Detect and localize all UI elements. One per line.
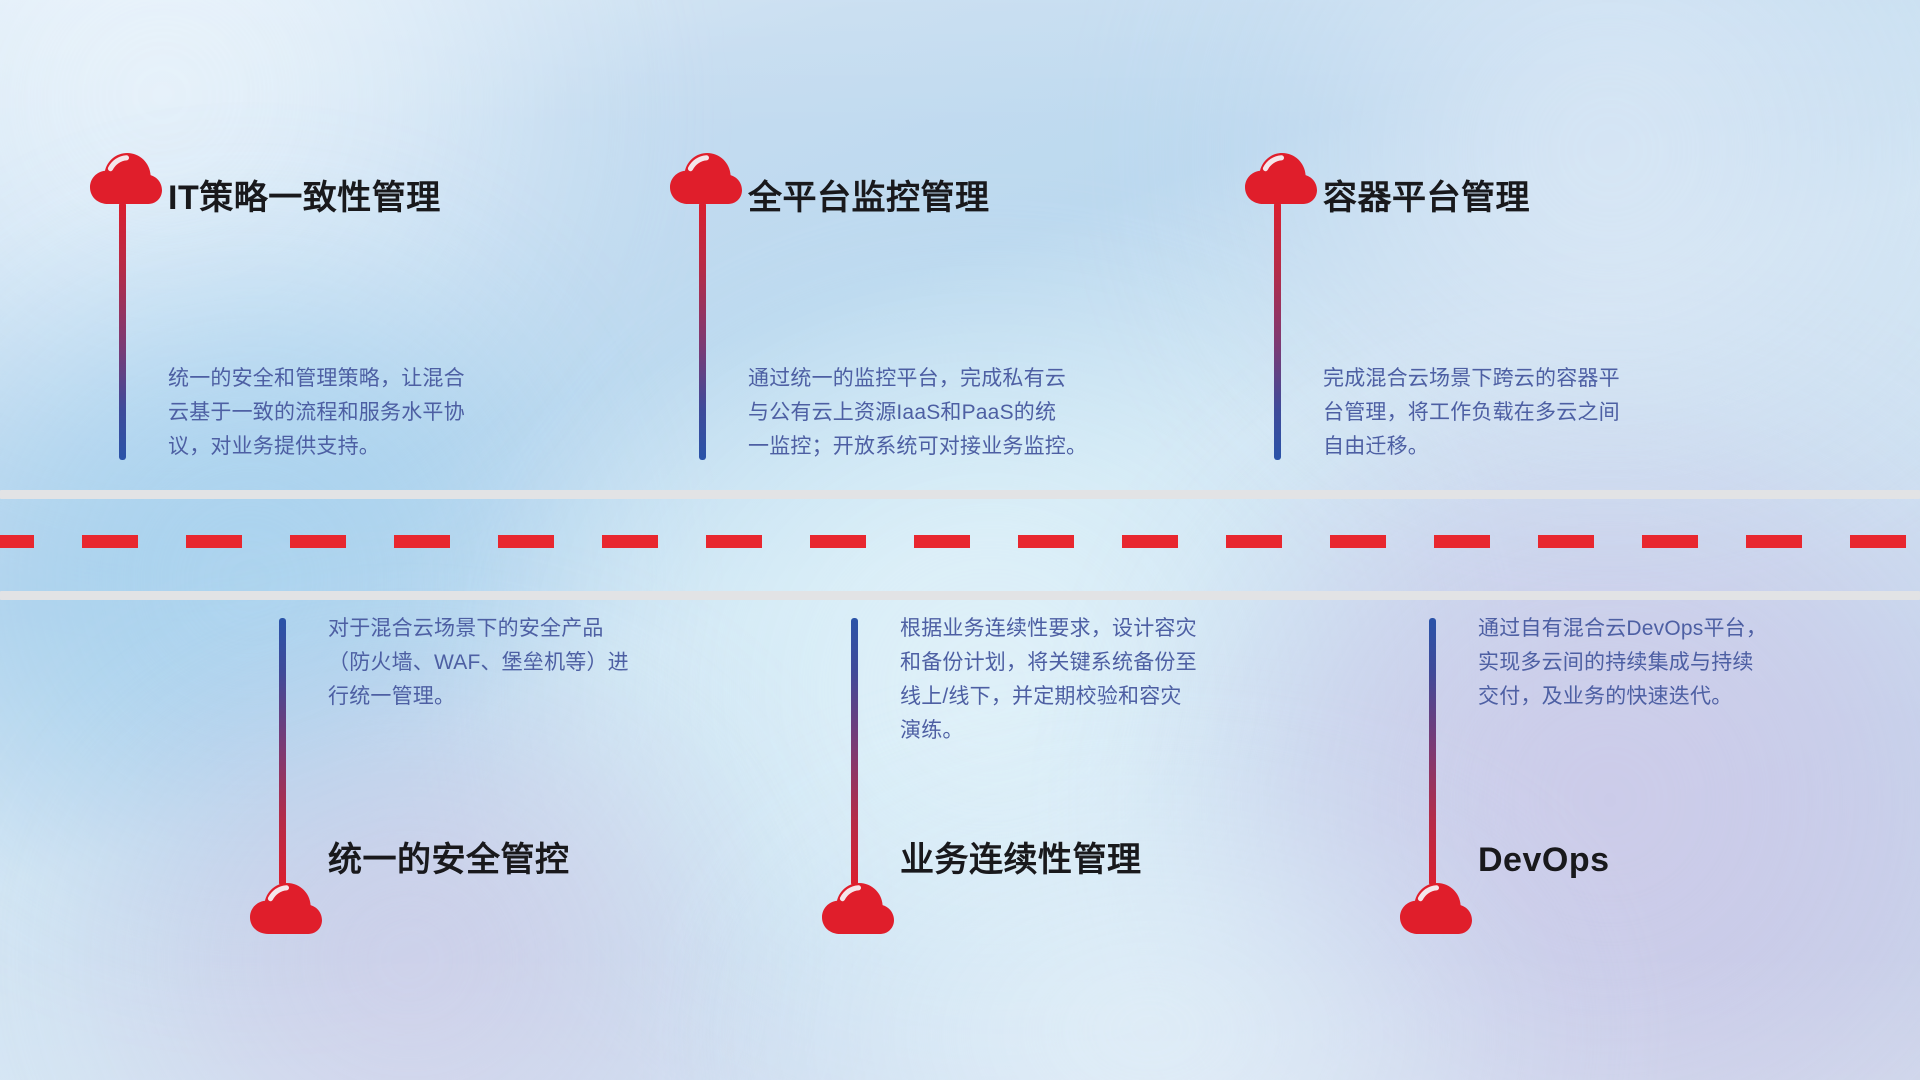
pin-stem <box>699 202 706 460</box>
cloud-icon <box>820 880 896 936</box>
card-description: 根据业务连续性要求，设计容灾 和备份计划，将关键系统备份至 线上/线下，并定期校… <box>900 612 1330 748</box>
road-dash-stripe <box>0 535 1920 548</box>
card-title: IT策略一致性管理 <box>168 178 441 219</box>
road-edge-bottom <box>0 591 1920 600</box>
pin-stem <box>851 618 858 886</box>
card-title: DevOps <box>1478 840 1610 881</box>
pin-stem <box>279 618 286 886</box>
cloud-icon <box>1243 150 1319 206</box>
card-description: 通过统一的监控平台，完成私有云 与公有云上资源IaaS和PaaS的统 一监控；开… <box>748 362 1178 464</box>
card-description: 通过自有混合云DevOps平台， 实现多云间的持续集成与持续 交付，及业务的快速… <box>1478 612 1908 714</box>
card-title: 容器平台管理 <box>1323 178 1530 219</box>
card-title: 全平台监控管理 <box>748 178 990 219</box>
pin-stem <box>119 202 126 460</box>
background-blob-bottom-left-violet <box>60 700 760 1080</box>
cloud-icon <box>248 880 324 936</box>
infographic-canvas: IT策略一致性管理 统一的安全和管理策略，让混合 云基于一致的流程和服务水平协 … <box>0 0 1920 1080</box>
road-center-dashes <box>0 535 1920 548</box>
road-divider <box>0 490 1920 600</box>
card-title: 统一的安全管控 <box>328 840 570 881</box>
card-description: 对于混合云场景下的安全产品 （防火墙、WAF、堡垒机等）进 行统一管理。 <box>328 612 758 714</box>
pin-stem <box>1429 618 1436 886</box>
cloud-icon <box>88 150 164 206</box>
card-description: 完成混合云场景下跨云的容器平 台管理，将工作负载在多云之间 自由迁移。 <box>1323 362 1753 464</box>
cloud-icon <box>1398 880 1474 936</box>
road-edge-top <box>0 490 1920 499</box>
card-description: 统一的安全和管理策略，让混合 云基于一致的流程和服务水平协 议，对业务提供支持。 <box>168 362 598 464</box>
cloud-icon <box>668 150 744 206</box>
card-title: 业务连续性管理 <box>900 840 1142 881</box>
background-blob-bottom-glow <box>700 840 1600 1080</box>
pin-stem <box>1274 202 1281 460</box>
